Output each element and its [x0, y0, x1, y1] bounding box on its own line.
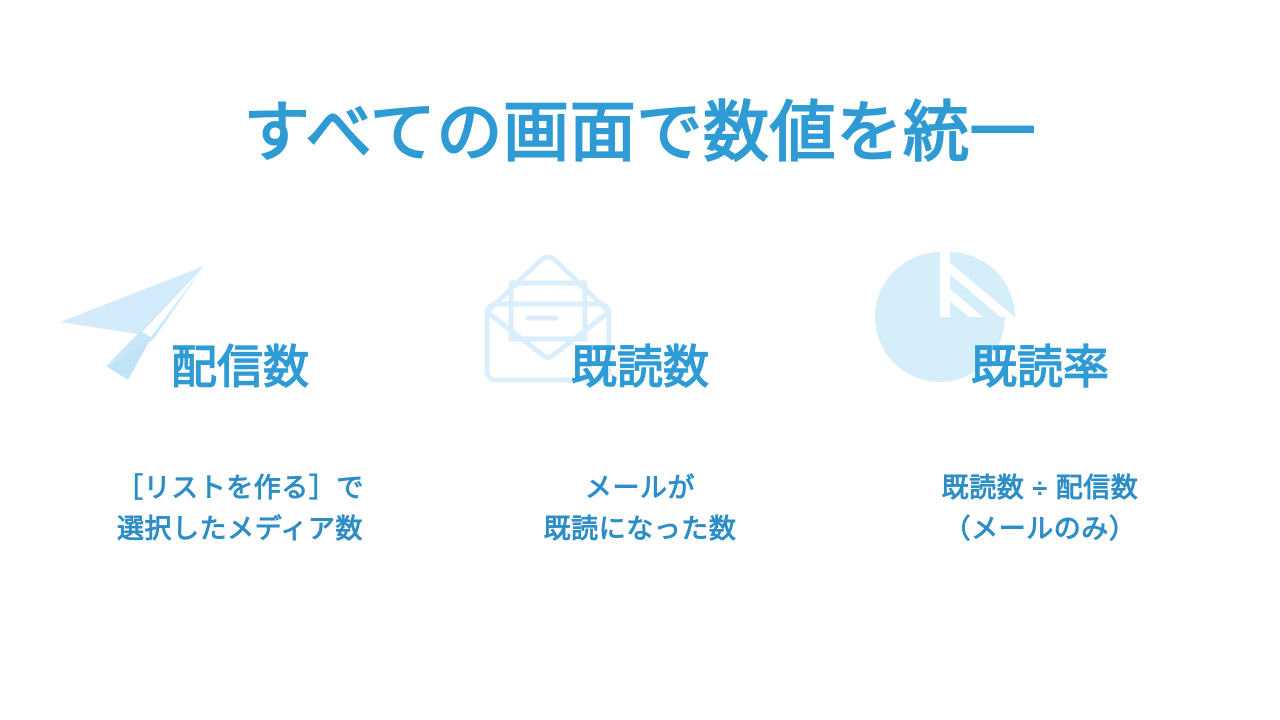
- metric-heading-open-rate: 既読率: [840, 342, 1240, 393]
- page-title: すべての画面で数値を統一: [0, 96, 1280, 170]
- metric-column-opened: 既読数 メールが 既読になった数: [440, 246, 840, 606]
- description-line: 選択したメディア数: [40, 509, 440, 550]
- metric-heading-delivery: 配信数: [40, 342, 440, 393]
- metric-column-delivery: 配信数 ［リストを作る］で 選択したメディア数: [40, 246, 440, 606]
- icon-heading-group: 既読率: [840, 246, 1240, 416]
- metric-column-open-rate: 既読率 既読数 ÷ 配信数 （メールのみ）: [840, 246, 1240, 606]
- metric-description-delivery: ［リストを作る］で 選択したメディア数: [40, 468, 440, 550]
- description-line: ［リストを作る］で: [40, 468, 440, 509]
- description-line: 既読数 ÷ 配信数: [840, 468, 1240, 509]
- icon-heading-group: 配信数: [40, 246, 440, 416]
- description-line: メールが: [440, 468, 840, 509]
- metric-description-opened: メールが 既読になった数: [440, 468, 840, 550]
- description-line: 既読になった数: [440, 509, 840, 550]
- metric-heading-opened: 既読数: [440, 342, 840, 393]
- slide: すべての画面で数値を統一 配信数: [0, 0, 1280, 720]
- description-line: （メールのみ）: [840, 509, 1240, 550]
- metric-description-open-rate: 既読数 ÷ 配信数 （メールのみ）: [840, 468, 1240, 550]
- icon-heading-group: 既読数: [440, 246, 840, 416]
- metric-columns: 配信数 ［リストを作る］で 選択したメディア数: [0, 246, 1280, 606]
